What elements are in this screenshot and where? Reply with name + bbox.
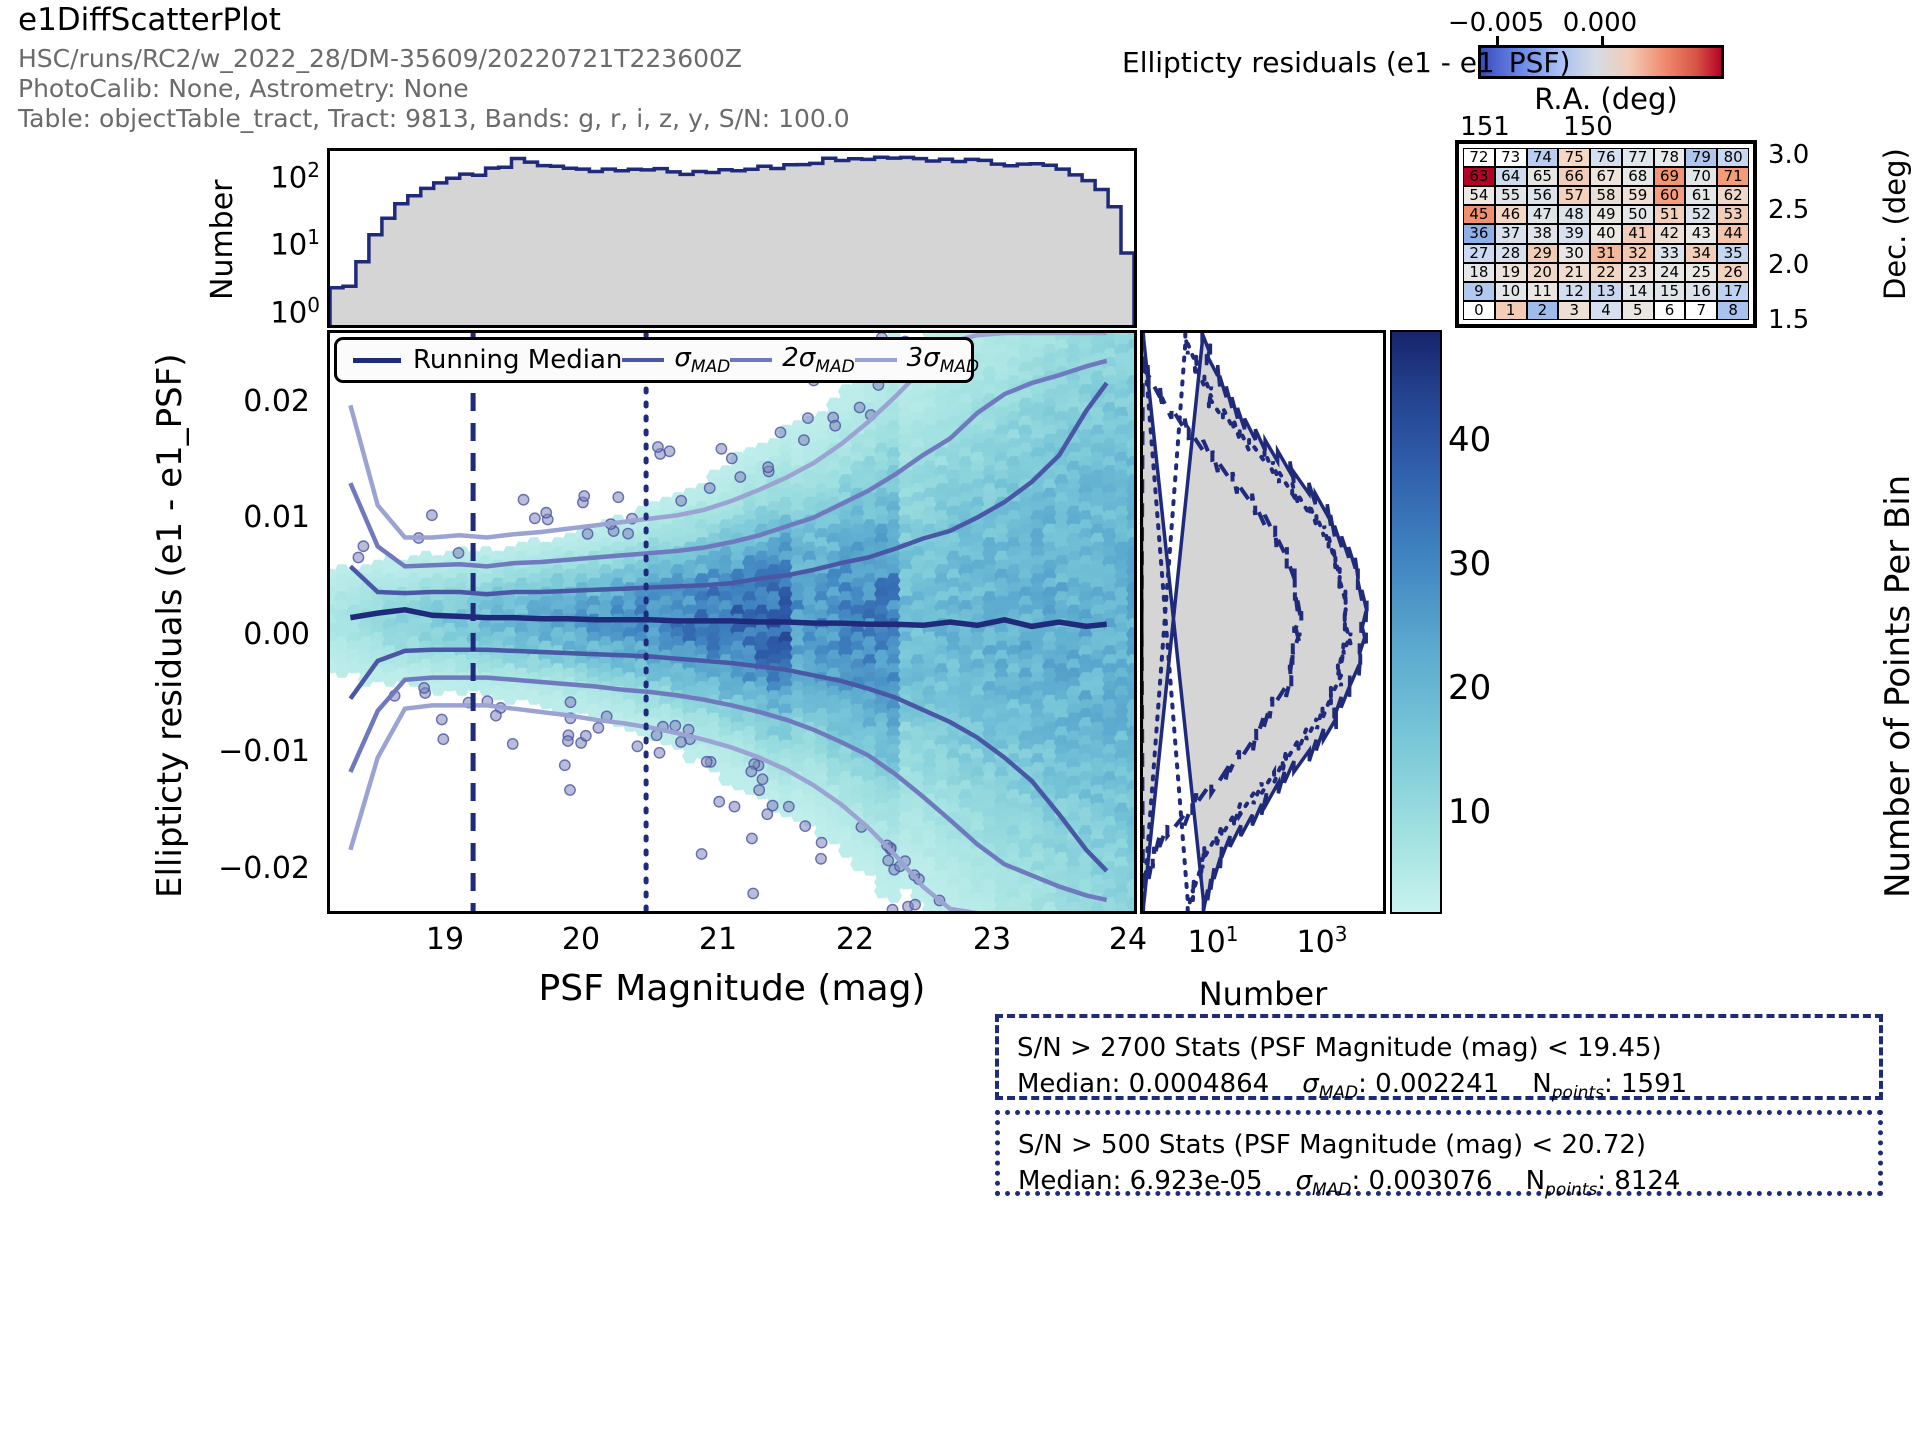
patch-11[interactable]: 11	[1527, 282, 1559, 301]
patch-37[interactable]: 37	[1495, 224, 1527, 243]
stats-npoints-label-sn2700: Npoints:	[1532, 1069, 1612, 1099]
right-histogram-xticks: 101 103	[1140, 922, 1386, 962]
patch-0[interactable]: 0	[1463, 301, 1495, 320]
patch-8[interactable]: 8	[1717, 301, 1749, 320]
patch-79[interactable]: 79	[1685, 148, 1717, 167]
legend-line-sigma2	[730, 358, 772, 362]
patch-4[interactable]: 4	[1590, 301, 1622, 320]
stats-sigma-label-sn2700: σMAD:	[1302, 1069, 1367, 1099]
patch-3[interactable]: 3	[1558, 301, 1590, 320]
rhist-xtick-1e1: 101	[1168, 922, 1258, 960]
patch-74[interactable]: 74	[1527, 148, 1559, 167]
patch-34[interactable]: 34	[1685, 244, 1717, 263]
patch-47[interactable]: 47	[1527, 205, 1559, 224]
patch-46[interactable]: 46	[1495, 205, 1527, 224]
skymap-xlabel: R.A. (deg)	[1455, 82, 1757, 116]
legend-label-sigma1: σMAD	[674, 343, 730, 377]
patch-25[interactable]: 25	[1685, 263, 1717, 282]
xtick-21: 21	[688, 922, 748, 957]
main-scatter-svg	[330, 333, 1134, 911]
patch-60[interactable]: 60	[1654, 186, 1686, 205]
patch-20[interactable]: 20	[1527, 263, 1559, 282]
stats-sigma-value-sn2700: 0.002241	[1375, 1069, 1499, 1099]
patch-53[interactable]: 53	[1717, 205, 1749, 224]
patch-73[interactable]: 73	[1495, 148, 1527, 167]
patch-49[interactable]: 49	[1590, 205, 1622, 224]
patch-35[interactable]: 35	[1717, 244, 1749, 263]
patch-62[interactable]: 62	[1717, 186, 1749, 205]
top-ytick-1e2: 102	[232, 158, 320, 195]
patch-21[interactable]: 21	[1558, 263, 1590, 282]
patch-17[interactable]: 17	[1717, 282, 1749, 301]
patch-44[interactable]: 44	[1717, 224, 1749, 243]
stats-values-sn2700: Median: 0.0004864 σMAD: 0.002241 Npoints…	[1017, 1066, 1861, 1111]
skymap-ylabel: Dec. (deg)	[1878, 148, 1912, 300]
stats-values-sn500: Median: 6.923e-05 σMAD: 0.003076 Npoints…	[1018, 1163, 1860, 1208]
ytick-0.00: 0.00	[180, 617, 310, 652]
legend-label-sigma2: 2σMAD	[782, 343, 854, 377]
xtick-19: 19	[415, 922, 475, 957]
patch-69[interactable]: 69	[1654, 167, 1686, 186]
skymap-ytick-2.5: 2.5	[1768, 195, 1809, 225]
right-histogram-svg	[1143, 333, 1385, 911]
patch-14[interactable]: 14	[1622, 282, 1654, 301]
patch-24[interactable]: 24	[1654, 263, 1686, 282]
patch-15[interactable]: 15	[1654, 282, 1686, 301]
legend-line-sigma1	[622, 358, 664, 362]
patch-56[interactable]: 56	[1527, 186, 1559, 205]
patch-55[interactable]: 55	[1495, 186, 1527, 205]
patch-5[interactable]: 5	[1622, 301, 1654, 320]
patch-70[interactable]: 70	[1685, 167, 1717, 186]
patch-30[interactable]: 30	[1558, 244, 1590, 263]
patch-75[interactable]: 75	[1558, 148, 1590, 167]
patch-16[interactable]: 16	[1685, 282, 1717, 301]
patch-12[interactable]: 12	[1558, 282, 1590, 301]
stats-median-value-sn2700: 0.0004864	[1129, 1069, 1270, 1099]
patch-65[interactable]: 65	[1527, 167, 1559, 186]
right-histogram-xlabel: Number	[1140, 975, 1386, 1013]
stats-median-value-sn500: 6.923e-05	[1130, 1166, 1263, 1196]
stats-median-label-sn2700: Median:	[1017, 1069, 1120, 1099]
patch-50[interactable]: 50	[1622, 205, 1654, 224]
ytick--0.01: −0.01	[180, 734, 310, 769]
legend-item-sigma1[interactable]: σMAD	[622, 343, 730, 377]
patch-6[interactable]: 6	[1654, 301, 1686, 320]
main-xticks: 19 20 21 22 23 24	[327, 922, 1137, 962]
patch-77[interactable]: 77	[1622, 148, 1654, 167]
patch-32[interactable]: 32	[1622, 244, 1654, 263]
patch-72[interactable]: 72	[1463, 148, 1495, 167]
patch-78[interactable]: 78	[1654, 148, 1686, 167]
page-title: e1DiffScatterPlot	[18, 2, 281, 38]
stats-npoints-value-sn2700: 1591	[1621, 1069, 1687, 1099]
sequential-colorbar-label: Number of Points Per Bin	[1878, 475, 1918, 898]
patch-58[interactable]: 58	[1590, 186, 1622, 205]
xtick-23: 23	[962, 922, 1022, 957]
skymap-patch-grid[interactable]: 7273747576777879806364656667686970715455…	[1455, 140, 1757, 328]
patch-13[interactable]: 13	[1590, 282, 1622, 301]
patch-71[interactable]: 71	[1717, 167, 1749, 186]
stats-sigma-label-sn500: σMAD:	[1296, 1166, 1361, 1196]
patch-63[interactable]: 63	[1463, 167, 1495, 186]
rhist-xtick-1e3: 103	[1277, 922, 1367, 960]
stats-sigma-value-sn500: 0.003076	[1368, 1166, 1492, 1196]
patch-61[interactable]: 61	[1685, 186, 1717, 205]
subtitle-line-collection: HSC/runs/RC2/w_2022_28/DM-35609/20220721…	[18, 44, 850, 74]
patch-52[interactable]: 52	[1685, 205, 1717, 224]
skymap-ytick-1.5: 1.5	[1768, 305, 1809, 335]
patch-76[interactable]: 76	[1590, 148, 1622, 167]
patch-41[interactable]: 41	[1622, 224, 1654, 243]
patch-48[interactable]: 48	[1558, 205, 1590, 224]
patch-10[interactable]: 10	[1495, 282, 1527, 301]
cb-tick-0.000: 0.000	[1540, 8, 1660, 38]
patch-43[interactable]: 43	[1685, 224, 1717, 243]
cbseq-tick-30: 30	[1448, 544, 1491, 584]
stats-npoints-label-sn500: Npoints:	[1526, 1166, 1606, 1196]
legend-line-sigma3	[855, 358, 897, 362]
patch-2[interactable]: 2	[1527, 301, 1559, 320]
top-ytick-1e0: 100	[232, 293, 320, 330]
patch-66[interactable]: 66	[1558, 167, 1590, 186]
main-xlabel: PSF Magnitude (mag)	[327, 968, 1137, 1009]
patch-9[interactable]: 9	[1463, 282, 1495, 301]
legend-label-running-median: Running Median	[413, 345, 622, 375]
stats-box-sn500[interactable]: S/N > 500 Stats (PSF Magnitude (mag) < 2…	[995, 1110, 1883, 1196]
cbseq-tick-10: 10	[1448, 792, 1491, 832]
legend-line-running-median	[353, 358, 401, 363]
patch-68[interactable]: 68	[1622, 167, 1654, 186]
patch-59[interactable]: 59	[1622, 186, 1654, 205]
stats-box-sn2700[interactable]: S/N > 2700 Stats (PSF Magnitude (mag) < …	[995, 1014, 1883, 1100]
skymap-ytick-3.0: 3.0	[1768, 140, 1809, 170]
cb-tick--0.005: −0.005	[1436, 8, 1556, 38]
ytick-0.01: 0.01	[180, 500, 310, 535]
top-histogram-panel[interactable]	[327, 148, 1137, 328]
legend-label-sigma3: 3σMAD	[907, 343, 979, 377]
patch-67[interactable]: 67	[1590, 167, 1622, 186]
xtick-20: 20	[551, 922, 611, 957]
subtitle-line-table: Table: objectTable_tract, Tract: 9813, B…	[18, 104, 850, 134]
top-ytick-1e1: 101	[232, 225, 320, 262]
cbseq-tick-20: 20	[1448, 668, 1491, 708]
patch-54[interactable]: 54	[1463, 186, 1495, 205]
patch-1[interactable]: 1	[1495, 301, 1527, 320]
patch-29[interactable]: 29	[1527, 244, 1559, 263]
cbseq-tick-40: 40	[1448, 420, 1491, 460]
xtick-22: 22	[825, 922, 885, 957]
patch-51[interactable]: 51	[1654, 205, 1686, 224]
main-scatter-panel[interactable]	[327, 330, 1137, 914]
patch-45[interactable]: 45	[1463, 205, 1495, 224]
skymap-grid-inner: 7273747576777879806364656667686970715455…	[1463, 148, 1749, 320]
patch-38[interactable]: 38	[1527, 224, 1559, 243]
patch-33[interactable]: 33	[1654, 244, 1686, 263]
sequential-colorbar[interactable]	[1390, 330, 1442, 914]
patch-19[interactable]: 19	[1495, 263, 1527, 282]
patch-23[interactable]: 23	[1622, 263, 1654, 282]
patch-39[interactable]: 39	[1558, 224, 1590, 243]
diverging-colorbar-label: Ellipticty residuals (e1 - e1_PSF)	[1122, 46, 1570, 79]
right-histogram-panel[interactable]	[1140, 330, 1386, 914]
page-subtitle-block: HSC/runs/RC2/w_2022_28/DM-35609/20220721…	[18, 44, 850, 134]
patch-64[interactable]: 64	[1495, 167, 1527, 186]
ytick-0.02: 0.02	[180, 384, 310, 419]
patch-80[interactable]: 80	[1717, 148, 1749, 167]
stats-median-label-sn500: Median:	[1018, 1166, 1121, 1196]
stats-heading-sn500: S/N > 500 Stats (PSF Magnitude (mag) < 2…	[1018, 1127, 1860, 1163]
subtitle-line-calib: PhotoCalib: None, Astrometry: None	[18, 74, 850, 104]
patch-26[interactable]: 26	[1717, 263, 1749, 282]
patch-27[interactable]: 27	[1463, 244, 1495, 263]
patch-7[interactable]: 7	[1685, 301, 1717, 320]
top-histogram-svg	[330, 151, 1134, 325]
patch-28[interactable]: 28	[1495, 244, 1527, 263]
stats-npoints-value-sn500: 8124	[1614, 1166, 1680, 1196]
skymap-ytick-2.0: 2.0	[1768, 250, 1809, 280]
patch-18[interactable]: 18	[1463, 263, 1495, 282]
patch-40[interactable]: 40	[1590, 224, 1622, 243]
ytick--0.02: −0.02	[180, 851, 310, 886]
legend-item-running-median[interactable]: Running Median	[353, 345, 622, 375]
patch-31[interactable]: 31	[1590, 244, 1622, 263]
skymap-xtick-150: 150	[1528, 112, 1648, 142]
patch-42[interactable]: 42	[1654, 224, 1686, 243]
main-legend[interactable]: Running Median σMAD 2σMAD 3σMAD	[334, 337, 974, 383]
patch-22[interactable]: 22	[1590, 263, 1622, 282]
patch-36[interactable]: 36	[1463, 224, 1495, 243]
skymap-xtick-151: 151	[1425, 112, 1545, 142]
stats-heading-sn2700: S/N > 2700 Stats (PSF Magnitude (mag) < …	[1017, 1030, 1861, 1066]
patch-57[interactable]: 57	[1558, 186, 1590, 205]
legend-item-sigma3[interactable]: 3σMAD	[855, 343, 979, 377]
legend-item-sigma2[interactable]: 2σMAD	[730, 343, 854, 377]
